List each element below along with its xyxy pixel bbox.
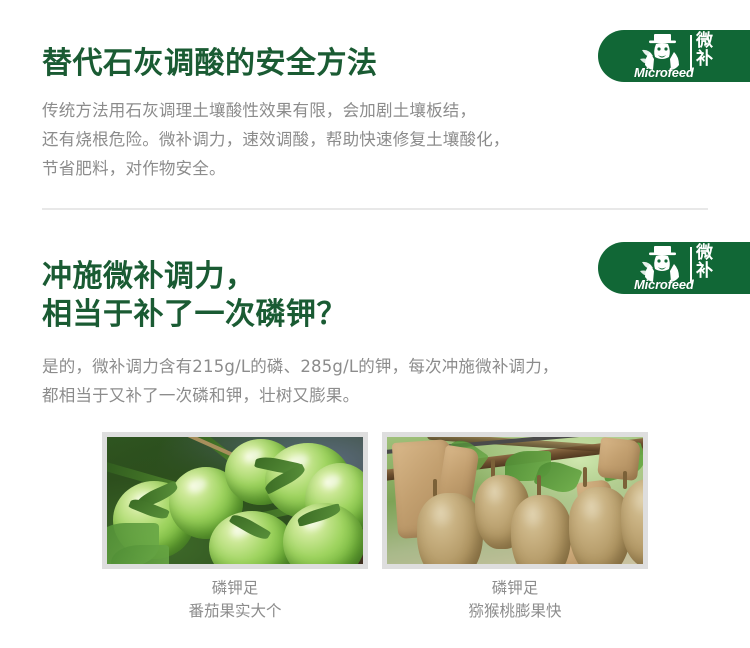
photo-caption-kiwi: 磷钾足 猕猴桃膨果快	[382, 577, 648, 623]
photo-frame-tomato	[102, 432, 368, 569]
section-body-1: 传统方法用石灰调理土壤酸性效果有限，会加剧土壤板结， 还有烧根危险。微补调力，速…	[42, 96, 510, 183]
section-title-1: 替代石灰调酸的安全方法	[42, 45, 378, 83]
page-root: 微 补 Microfeed 替代石灰调酸的安全方法 传统方法用石灰调理土壤酸性效…	[0, 0, 750, 648]
photo-caption-tomato: 磷钾足 番茄果实大个	[102, 577, 368, 623]
brand-badge-top: 微 补 Microfeed	[598, 30, 750, 82]
section-divider	[42, 208, 708, 210]
brand-badge-content: 微 补 Microfeed	[632, 30, 750, 82]
section-body-2: 是的，微补调力含有215g/L的磷、285g/L的钾，每次冲施微补调力， 都相当…	[42, 352, 559, 410]
photo-card-kiwi: 磷钾足 猕猴桃膨果快	[382, 432, 648, 623]
photo-card-tomato: 磷钾足 番茄果实大个	[102, 432, 368, 623]
photo-frame-kiwi	[382, 432, 648, 569]
green-tomatoes-on-vine-photo	[107, 437, 363, 564]
brand-name-latin: Microfeed	[634, 277, 694, 292]
brand-badge-content-2: 微 补 Microfeed	[632, 242, 750, 294]
brand-cn-char-2: 补	[696, 262, 730, 280]
brand-name-cn: 微 补	[696, 32, 730, 68]
brand-cn-char-1: 微	[696, 244, 730, 262]
brand-name-cn: 微 补	[696, 244, 730, 280]
kiwifruit-on-vine-photo	[387, 437, 643, 564]
brand-name-latin: Microfeed	[634, 65, 694, 80]
brand-cn-char-2: 补	[696, 50, 730, 68]
brand-badge-bottom: 微 补 Microfeed	[598, 242, 750, 294]
brand-cn-char-1: 微	[696, 32, 730, 50]
photo-row: 磷钾足 番茄果实大个	[0, 432, 750, 632]
section-title-2: 冲施微补调力， 相当于补了一次磷钾？	[42, 258, 347, 334]
